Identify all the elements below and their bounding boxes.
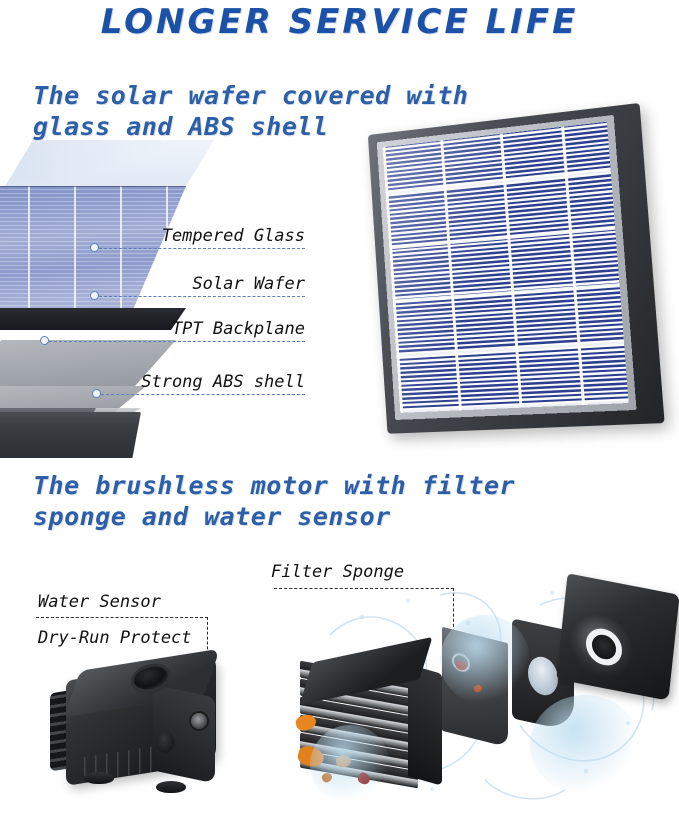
label-strong-abs-shell: Strong ABS shell (95, 372, 305, 392)
layer-node-tpt (40, 336, 49, 345)
pump-suction-foot (84, 772, 114, 784)
label-water-sensor: Water Sensor (38, 592, 161, 612)
label-tpt-backplane: TPT Backplane (105, 319, 305, 339)
section-motor-heading-line2: sponge and water sensor (33, 501, 533, 532)
solar-wafer-sheet (0, 186, 186, 326)
leader-line-abs (101, 394, 305, 395)
abs-shell-body (0, 412, 141, 458)
water-pump-photo (28, 655, 243, 805)
label-dry-run-protect: Dry-Run Protect (38, 628, 192, 648)
solar-panel-cells (383, 122, 629, 413)
pump-suction-foot (156, 781, 186, 793)
exploded-motor-photo (290, 575, 679, 817)
leader-line-glass (99, 248, 305, 249)
splash-highlight (310, 725, 390, 805)
pump-water-sensor-port (191, 713, 207, 729)
layer-node-wafer (90, 291, 99, 300)
section-motor-heading-line1: The brushless motor with filter (33, 470, 533, 501)
infographic-canvas: LONGER SERVICE LIFE The solar wafer cove… (0, 0, 679, 817)
splash-highlight (440, 615, 530, 705)
section-solar-heading-line1: The solar wafer covered with (33, 80, 503, 111)
solar-panel-photo (358, 107, 661, 438)
pump-intake-hole (156, 731, 174, 753)
leader-line-water-sensor (36, 617, 208, 618)
splash-highlight (530, 695, 640, 795)
leader-line-tpt (49, 341, 305, 342)
filter-sponge-side (408, 664, 442, 786)
page-title: LONGER SERVICE LIFE (0, 2, 679, 42)
label-solar-wafer: Solar Wafer (105, 274, 305, 294)
section-motor-heading: The brushless motor with filter sponge a… (33, 470, 533, 532)
layer-node-glass (90, 243, 99, 252)
leader-line-wafer (99, 296, 305, 297)
label-tempered-glass: Tempered Glass (105, 226, 305, 246)
